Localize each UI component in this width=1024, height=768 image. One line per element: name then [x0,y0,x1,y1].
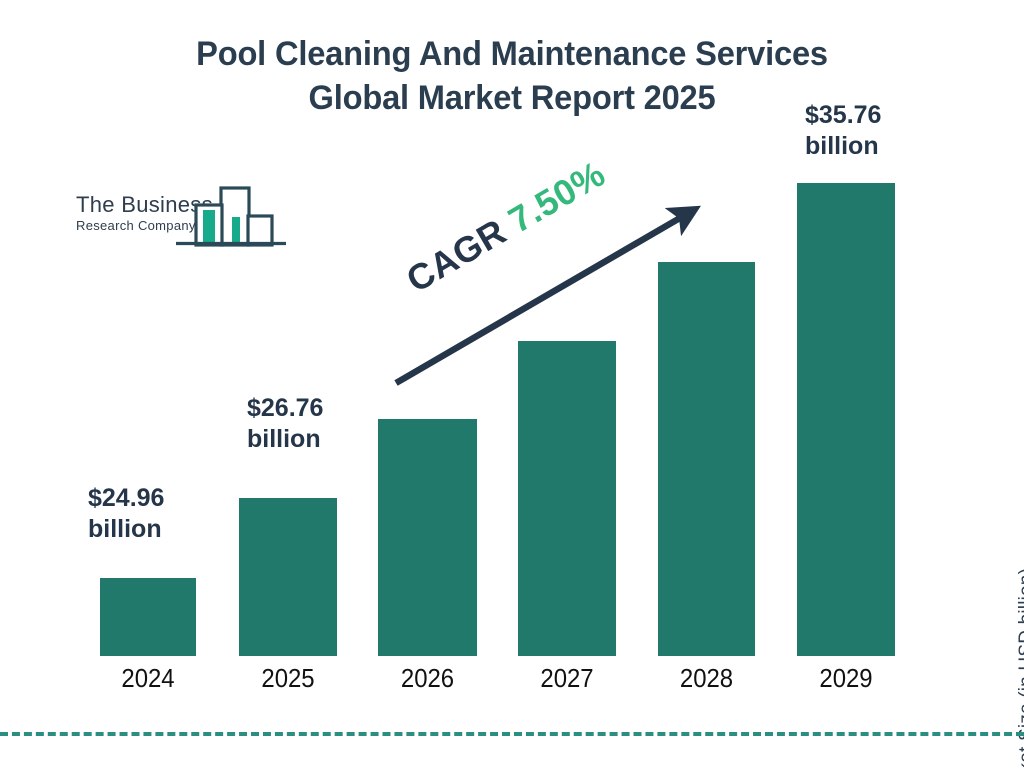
bar-value-unit-2025: billion [247,424,323,455]
x-tick-2026: 2026 [382,662,473,694]
bar-2028 [658,262,755,656]
bar-value-unit-2029: billion [805,131,881,162]
bar-value-amount-2024: $24.96 [88,484,164,512]
x-tick-2025: 2025 [243,662,333,694]
bar-value-label-2025: $26.76 billion [247,393,323,455]
bar-value-amount-2029: $35.76 [805,101,881,129]
bar-2026 [378,419,477,656]
x-tick-2027: 2027 [522,662,612,694]
cagr-label: CAGR 7.50% [399,153,612,301]
bar-value-label-2024: $24.96 billion [88,483,164,545]
bar-2029 [797,183,895,656]
bar-value-amount-2025: $26.76 [247,394,323,422]
bar-value-label-2029: $35.76 billion [805,100,881,162]
cagr-value: 7.50% [501,153,612,241]
x-tick-2029: 2029 [801,662,891,694]
bar-value-unit-2024: billion [88,514,164,545]
bar-2024 [100,578,196,656]
plot-area: $24.96 billion $26.76 billion $35.76 bil… [0,0,1024,768]
cagr-word: CAGR [399,211,513,301]
y-axis-label: Market Size (in USD billion) [1016,568,1024,768]
x-tick-2024: 2024 [104,662,192,694]
bottom-divider [0,732,1024,736]
chart-canvas: Pool Cleaning And Maintenance Services G… [0,0,1024,768]
bar-2027 [518,341,616,656]
x-tick-2028: 2028 [662,662,751,694]
bar-2025 [239,498,337,656]
